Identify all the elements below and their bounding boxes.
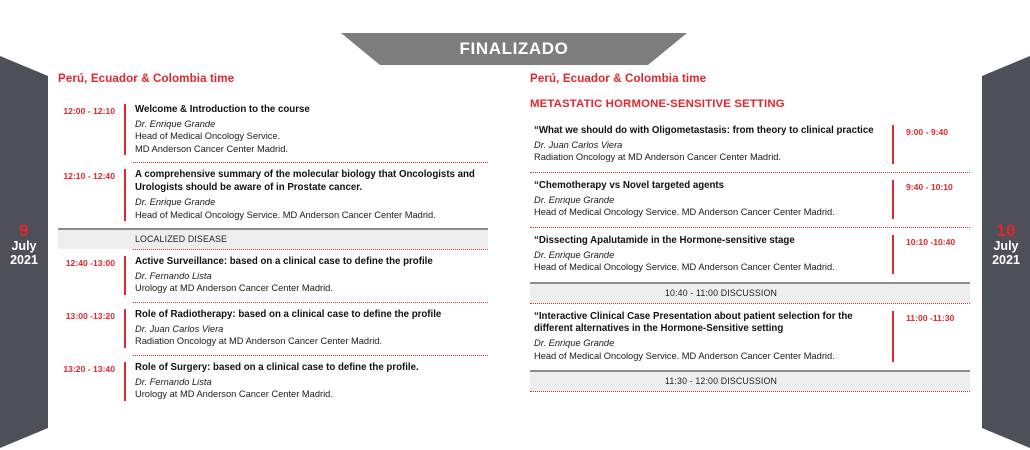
session-speaker: Dr. Enrique Grande bbox=[135, 118, 488, 131]
day-two-column: Perú, Ecuador & Colombia time METASTATIC… bbox=[530, 72, 970, 392]
session-row[interactable]: 12:40 -13:00Active Surveillance: based o… bbox=[58, 250, 488, 302]
session-title: “Interactive Clinical Case Presentation … bbox=[534, 311, 882, 337]
session-affiliation: Head of Medical Oncology Service. MD And… bbox=[135, 209, 488, 222]
session-speaker: Dr. Enrique Grande bbox=[135, 196, 488, 209]
session-affiliation: Radiation Oncology at MD Anderson Cancer… bbox=[135, 335, 488, 348]
session-time: 13:20 - 13:40 bbox=[58, 362, 124, 374]
session-body: Welcome & Introduction to the courseDr. … bbox=[124, 104, 488, 155]
session-body: A comprehensive summary of the molecular… bbox=[124, 169, 488, 221]
session-row[interactable]: 12:10 - 12:40A comprehensive summary of … bbox=[58, 163, 488, 228]
left-date-label: 9 July 2021 bbox=[0, 222, 48, 267]
schedule-band: 11:30 - 12:00 DISCUSSION bbox=[530, 370, 970, 391]
session-body: Active Surveillance: based on a clinical… bbox=[124, 256, 488, 295]
session-body: Role of Surgery: based on a clinical cas… bbox=[124, 362, 488, 401]
session-title: Role of Radiotherapy: based on a clinica… bbox=[135, 309, 488, 322]
section-heading-metastatic: METASTATIC HORMONE-SENSITIVE SETTING bbox=[530, 98, 970, 110]
session-title: A comprehensive summary of the molecular… bbox=[135, 169, 488, 195]
session-time: 13:00 -13:20 bbox=[58, 309, 124, 321]
session-speaker: Dr. Enrique Grande bbox=[534, 249, 882, 262]
session-affiliation: Head of Medical Oncology Service. MD And… bbox=[534, 206, 882, 219]
session-time: 12:00 - 12:10 bbox=[58, 104, 124, 116]
session-speaker: Dr. Fernando Lista bbox=[135, 270, 488, 283]
schedule-band: 10:40 - 11:00 DISCUSSION bbox=[530, 282, 970, 303]
timezone-heading-right: Perú, Ecuador & Colombia time bbox=[530, 72, 970, 85]
session-affiliation: Radiation Oncology at MD Anderson Cancer… bbox=[534, 151, 882, 164]
session-speaker: Dr. Juan Carlos Viera bbox=[135, 323, 488, 336]
session-affiliation: Head of Medical Oncology Service. MD And… bbox=[534, 261, 882, 274]
session-row[interactable]: 13:00 -13:20Role of Radiotherapy: based … bbox=[58, 303, 488, 355]
session-body: “Chemotherapy vs Novel targeted agentsDr… bbox=[530, 180, 892, 219]
session-affiliation: Urology at MD Anderson Cancer Center Mad… bbox=[135, 282, 488, 295]
session-speaker: Dr. Enrique Grande bbox=[534, 194, 882, 207]
schedule-band-label: 10:40 - 11:00 DISCUSSION bbox=[665, 288, 777, 298]
session-row[interactable]: “Chemotherapy vs Novel targeted agentsDr… bbox=[530, 173, 970, 227]
right-date-month: July bbox=[982, 240, 1030, 254]
row-separator bbox=[530, 391, 970, 392]
session-body: “Dissecting Apalutamide in the Hormone-s… bbox=[530, 235, 892, 274]
session-title: “What we should do with Oligometastasis:… bbox=[534, 125, 882, 138]
session-time: 12:40 -13:00 bbox=[58, 256, 124, 268]
session-speaker: Dr. Juan Carlos Viera bbox=[534, 139, 882, 152]
session-title: Welcome & Introduction to the course bbox=[135, 104, 488, 117]
session-affiliation: MD Anderson Cancer Center Madrid. bbox=[135, 143, 488, 156]
right-date-label: 10 July 2021 bbox=[982, 222, 1030, 267]
left-date-year: 2021 bbox=[0, 254, 48, 268]
day-one-column: Perú, Ecuador & Colombia time 12:00 - 12… bbox=[58, 72, 488, 408]
agenda-canvas: 9 July 2021 10 July 2021 FINALIZADO Perú… bbox=[0, 0, 1030, 450]
schedule-band-label: LOCALIZED DISEASE bbox=[135, 234, 227, 244]
status-banner-label: FINALIZADO bbox=[341, 33, 687, 65]
session-affiliation: Urology at MD Anderson Cancer Center Mad… bbox=[135, 388, 488, 401]
session-speaker: Dr. Enrique Grande bbox=[534, 337, 882, 350]
right-date-day: 10 bbox=[982, 222, 1030, 240]
left-date-day: 9 bbox=[0, 222, 48, 240]
session-title: “Dissecting Apalutamide in the Hormone-s… bbox=[534, 235, 882, 248]
session-title: Active Surveillance: based on a clinical… bbox=[135, 256, 488, 269]
schedule-band: LOCALIZED DISEASE bbox=[58, 228, 488, 249]
session-title: Role of Surgery: based on a clinical cas… bbox=[135, 362, 488, 375]
session-row[interactable]: 12:00 - 12:10Welcome & Introduction to t… bbox=[58, 98, 488, 162]
session-body: “What we should do with Oligometastasis:… bbox=[530, 125, 892, 164]
session-time: 9:00 - 9:40 bbox=[892, 125, 970, 164]
right-date-year: 2021 bbox=[982, 254, 1030, 268]
session-body: Role of Radiotherapy: based on a clinica… bbox=[124, 309, 488, 348]
session-time: 10:10 -10:40 bbox=[892, 235, 970, 274]
session-speaker: Dr. Fernando Lista bbox=[135, 376, 488, 389]
day-one-session-list: 12:00 - 12:10Welcome & Introduction to t… bbox=[58, 98, 488, 408]
session-row[interactable]: “Dissecting Apalutamide in the Hormone-s… bbox=[530, 228, 970, 282]
session-row[interactable]: 13:20 - 13:40Role of Surgery: based on a… bbox=[58, 356, 488, 408]
session-row[interactable]: “What we should do with Oligometastasis:… bbox=[530, 118, 970, 172]
session-title: “Chemotherapy vs Novel targeted agents bbox=[534, 180, 882, 193]
timezone-heading-left: Perú, Ecuador & Colombia time bbox=[58, 72, 488, 85]
day-two-session-list: “What we should do with Oligometastasis:… bbox=[530, 118, 970, 392]
schedule-band-label: 11:30 - 12:00 DISCUSSION bbox=[665, 376, 777, 386]
session-row[interactable]: “Interactive Clinical Case Presentation … bbox=[530, 304, 970, 371]
session-affiliation: Head of Medical Oncology Service. bbox=[135, 130, 488, 143]
session-affiliation: Head of Medical Oncology Service. MD And… bbox=[534, 350, 882, 363]
session-time: 12:10 - 12:40 bbox=[58, 169, 124, 181]
session-time: 11:00 -11:30 bbox=[892, 311, 970, 363]
session-body: “Interactive Clinical Case Presentation … bbox=[530, 311, 892, 363]
session-time: 9:40 - 10:10 bbox=[892, 180, 970, 219]
left-date-month: July bbox=[0, 240, 48, 254]
status-banner: FINALIZADO bbox=[341, 33, 687, 65]
